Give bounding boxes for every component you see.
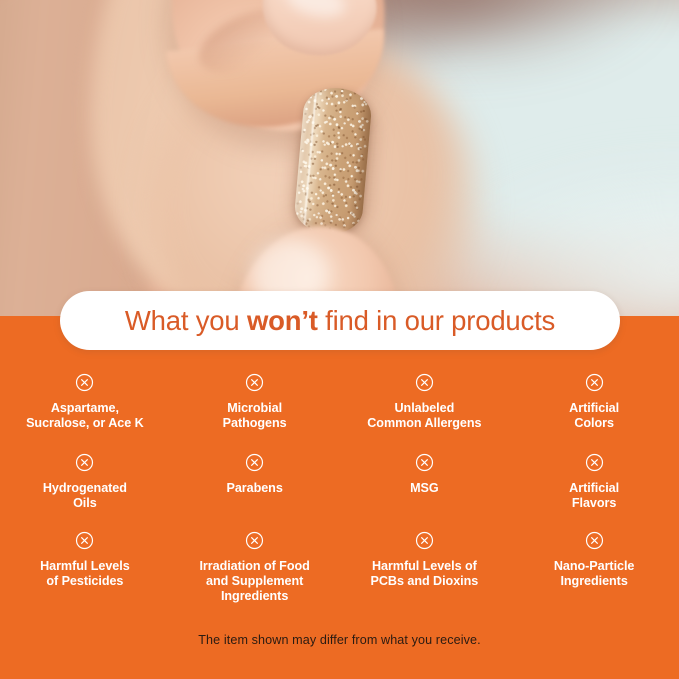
headline-pill: What you won’t find in our products — [60, 291, 620, 350]
circle-x-icon — [245, 373, 264, 392]
claim-label: Unlabeled Common Allergens — [367, 401, 481, 431]
claim-item-pesticides: Harmful Levels of Pesticides — [0, 531, 170, 611]
claim-item-pcbs-dioxins: Harmful Levels of PCBs and Dioxins — [340, 531, 510, 611]
claim-label: Artificial Colors — [569, 401, 619, 431]
claim-item-artificial-colors: Artificial Colors — [509, 373, 679, 453]
circle-x-icon — [415, 453, 434, 472]
product-photo — [0, 0, 679, 317]
claim-label: Parabens — [226, 481, 282, 496]
title-after: find in our products — [318, 305, 555, 336]
claim-item-artificial-flavors: Artificial Flavors — [509, 453, 679, 531]
claim-label: Harmful Levels of PCBs and Dioxins — [371, 559, 479, 589]
claims-grid: Aspartame, Sucralose, or Ace K Microbial… — [0, 373, 679, 611]
claim-item-unlabeled-allergens: Unlabeled Common Allergens — [340, 373, 510, 453]
claim-label: Nano-Particle Ingredients — [554, 559, 635, 589]
circle-x-icon — [585, 373, 604, 392]
claim-item-microbial-pathogens: Microbial Pathogens — [170, 373, 340, 453]
claim-item-aspartame: Aspartame, Sucralose, or Ace K — [0, 373, 170, 453]
claim-label: Harmful Levels of Pesticides — [40, 559, 130, 589]
claims-panel: Aspartame, Sucralose, or Ace K Microbial… — [0, 316, 679, 679]
claim-item-msg: MSG — [340, 453, 510, 531]
page-title: What you won’t find in our products — [125, 305, 555, 337]
claim-item-parabens: Parabens — [170, 453, 340, 531]
title-before: What you — [125, 305, 247, 336]
circle-x-icon — [415, 373, 434, 392]
claim-label: Aspartame, Sucralose, or Ace K — [26, 401, 144, 431]
claims-row: Hydrogenated Oils Parabens MSG — [0, 453, 679, 531]
title-emphasis: won’t — [247, 305, 318, 336]
circle-x-icon — [245, 531, 264, 550]
claim-label: Artificial Flavors — [569, 481, 619, 511]
circle-x-icon — [415, 531, 434, 550]
claim-item-hydrogenated-oils: Hydrogenated Oils — [0, 453, 170, 531]
claim-label: Hydrogenated Oils — [43, 481, 127, 511]
claims-row: Harmful Levels of Pesticides Irradiation… — [0, 531, 679, 611]
claim-label: Microbial Pathogens — [223, 401, 287, 431]
circle-x-icon — [585, 453, 604, 472]
disclaimer-text: The item shown may differ from what you … — [0, 633, 679, 647]
circle-x-icon — [245, 453, 264, 472]
claim-item-irradiation: Irradiation of Food and Supplement Ingre… — [170, 531, 340, 611]
claim-label: MSG — [410, 481, 439, 496]
claims-row: Aspartame, Sucralose, or Ace K Microbial… — [0, 373, 679, 453]
claim-label: Irradiation of Food and Supplement Ingre… — [199, 559, 309, 604]
circle-x-icon — [75, 531, 94, 550]
claim-item-nano-particle: Nano-Particle Ingredients — [509, 531, 679, 611]
circle-x-icon — [75, 453, 94, 472]
tablet-icon — [293, 85, 373, 236]
circle-x-icon — [585, 531, 604, 550]
circle-x-icon — [75, 373, 94, 392]
